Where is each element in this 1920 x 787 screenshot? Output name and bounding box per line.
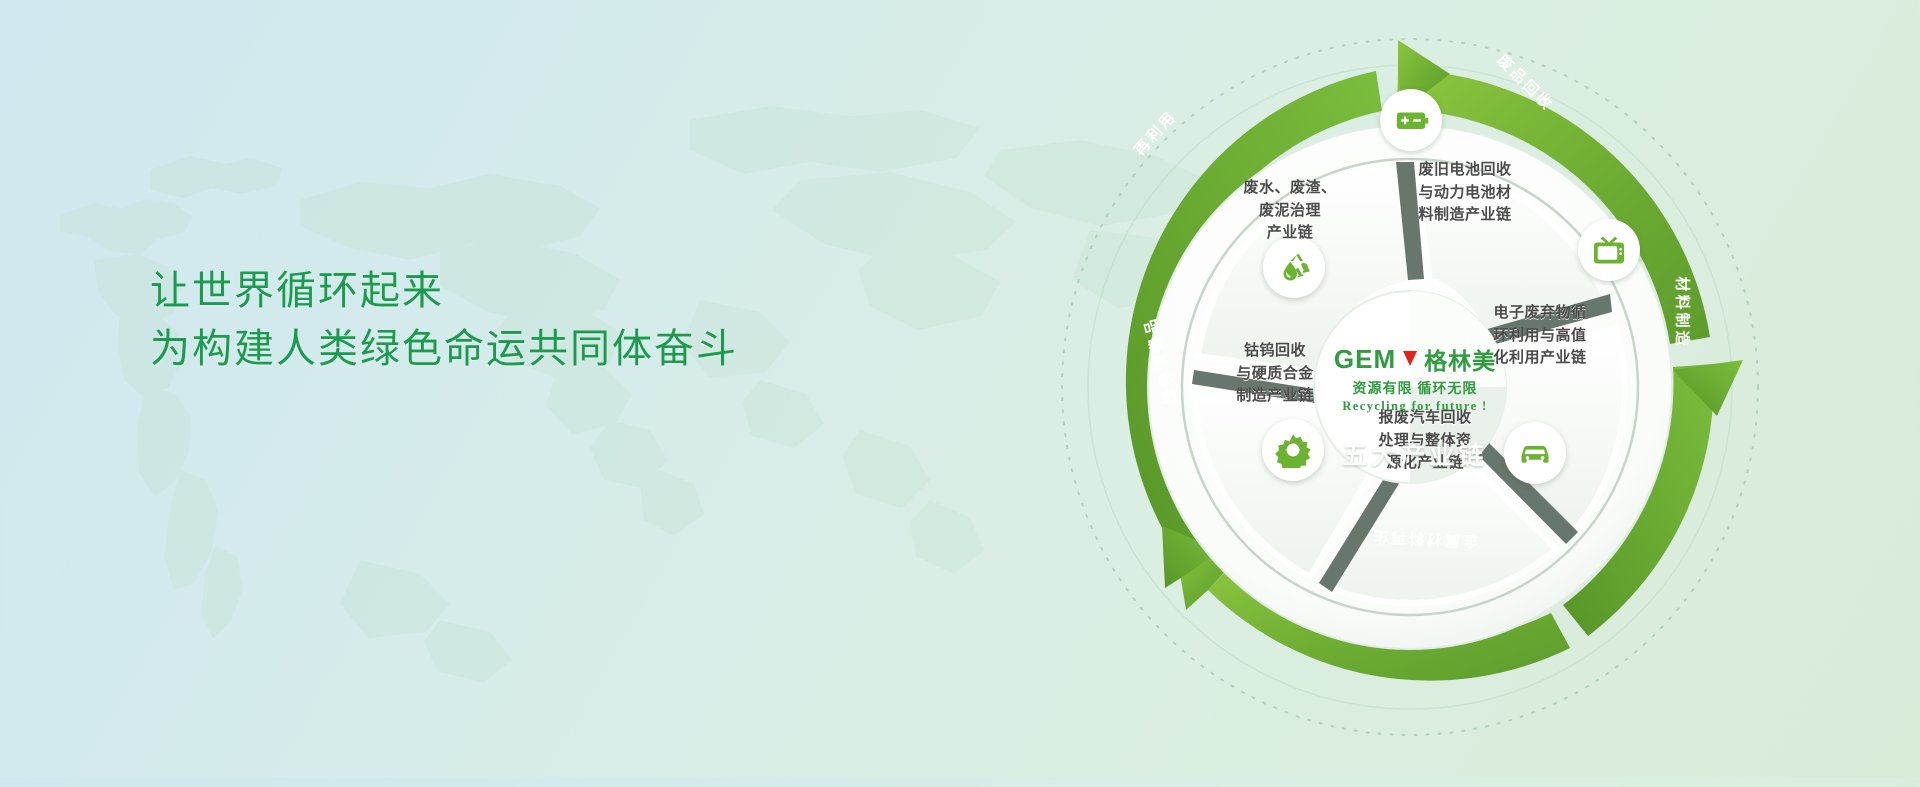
industry-icon-battery[interactable]: [1380, 89, 1442, 151]
industry-icon-waste-water[interactable]: [1263, 236, 1325, 298]
page-title: 让世界循环起来 为构建人类绿色命运共同体奋斗: [150, 262, 738, 378]
brand-slogan-cn: 资源有限 循环无限: [1310, 378, 1520, 398]
brand-cn: 格林美: [1424, 342, 1496, 376]
gem-mark-icon: [1402, 350, 1418, 368]
industry-label-battery: 废旧电池回收 与动力电池材 料制造产业链: [1385, 159, 1545, 227]
headline-line-2: 为构建人类绿色命运共同体奋斗: [150, 320, 738, 378]
television-icon: [1591, 232, 1627, 268]
center-logo: GEM 格林美 资源有限 循环无限 Recycling for future !…: [1310, 342, 1520, 472]
gear-icon: [1275, 432, 1311, 468]
headline-line-1: 让世界循环起来: [150, 262, 738, 320]
industry-label-waste-water: 废水、废渣、 废泥治理 产业链: [1210, 177, 1370, 245]
battery-icon: [1393, 102, 1429, 138]
center-caption: 五大产业链: [1310, 436, 1520, 472]
brand-row: GEM 格林美: [1310, 342, 1520, 376]
car-icon: [1517, 435, 1553, 471]
water-recycle-icon: [1276, 249, 1312, 285]
industry-icon-e-waste[interactable]: [1578, 219, 1640, 281]
brand-latin: GEM: [1334, 344, 1396, 375]
brand-slogan-en: Recycling for future !: [1310, 399, 1520, 414]
ring-label-material-manufacturing: 材料制造: [1673, 276, 1694, 348]
five-industry-chains-diagram: 再利用 废品回收 材料制造 金属材料再生 绿色消费品: [1010, 0, 1810, 782]
